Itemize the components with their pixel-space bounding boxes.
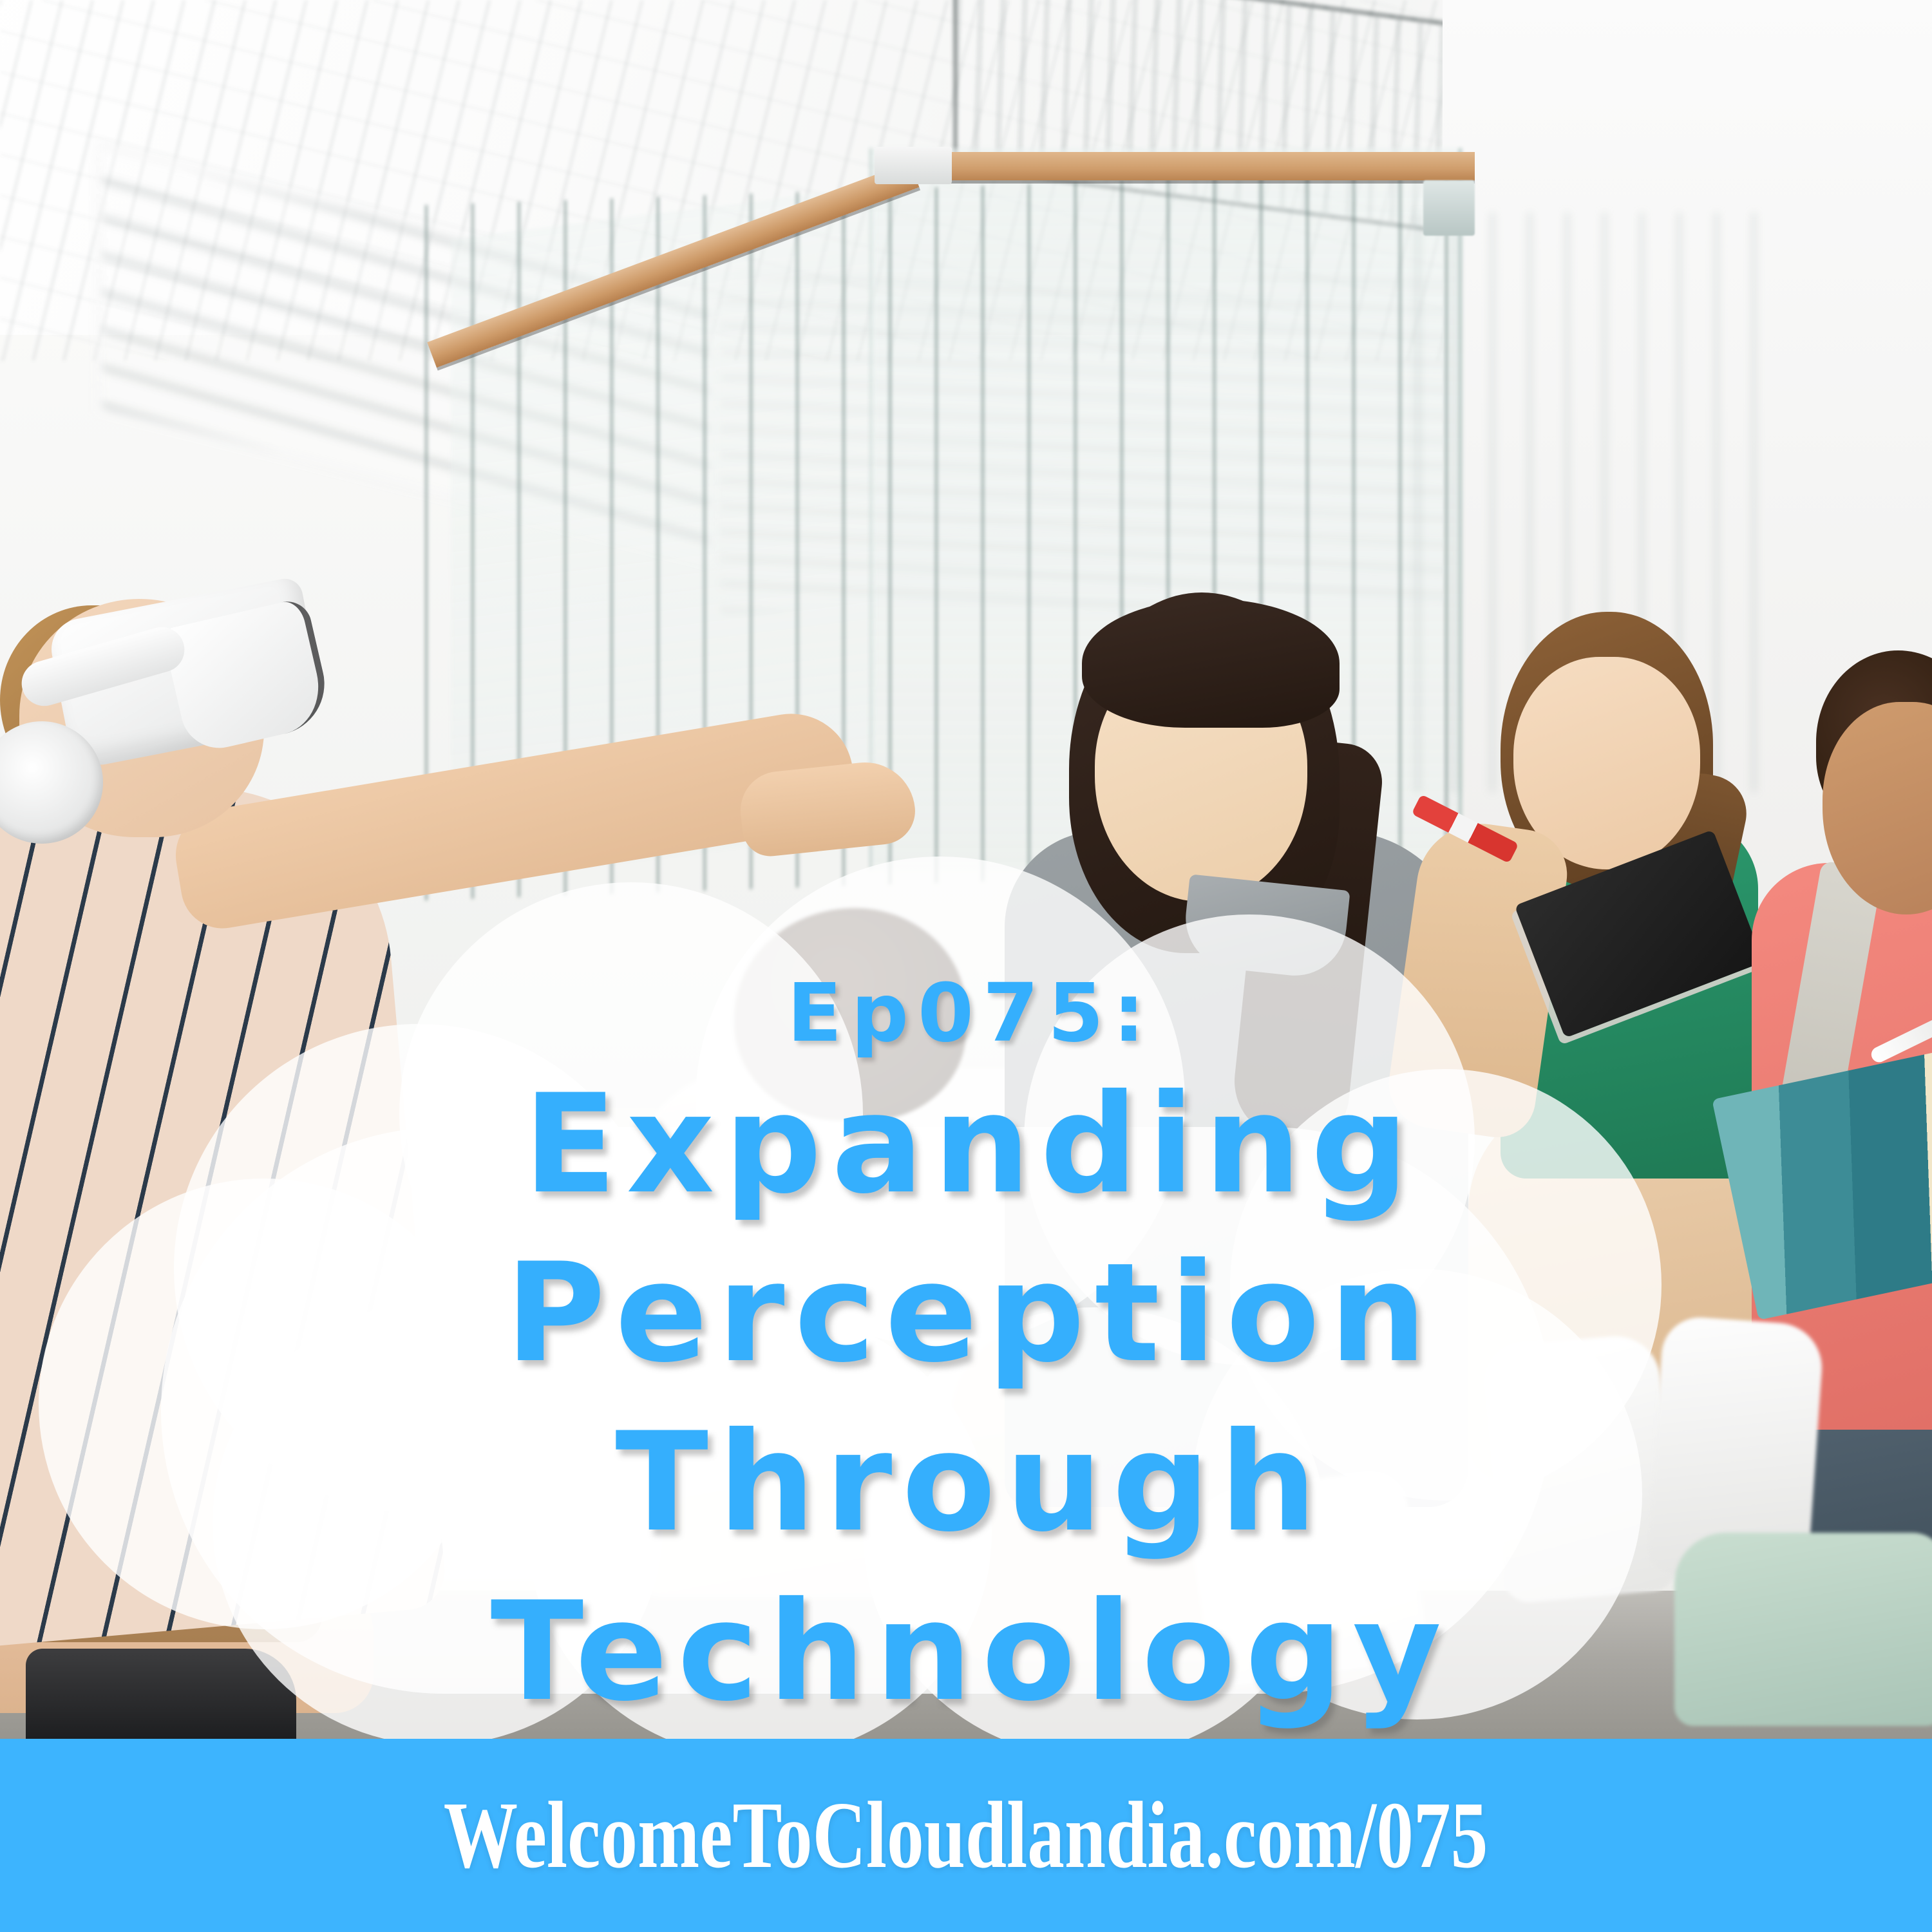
- title-line-4: Technology: [0, 1567, 1932, 1737]
- title-line-1: Expanding: [0, 1060, 1932, 1229]
- handrail-bracket-right: [1423, 180, 1475, 236]
- footer-bar: WelcomeToCloudlandia.com/075: [0, 1739, 1932, 1932]
- title-line-3: Through: [0, 1398, 1932, 1567]
- episode-number-label: Ep075:: [0, 972, 1932, 1055]
- girl-grey-polo-bangs: [1082, 599, 1340, 728]
- handrail-bracket: [875, 147, 952, 184]
- wood-handrail: [882, 152, 1475, 180]
- episode-title-block: Ep075: Expanding Perception Through Tech…: [0, 972, 1932, 1737]
- title-line-2: Perception: [0, 1229, 1932, 1398]
- episode-cover-canvas: Ep075: Expanding Perception Through Tech…: [0, 0, 1932, 1932]
- footer-website-url[interactable]: WelcomeToCloudlandia.com/075: [444, 1788, 1488, 1883]
